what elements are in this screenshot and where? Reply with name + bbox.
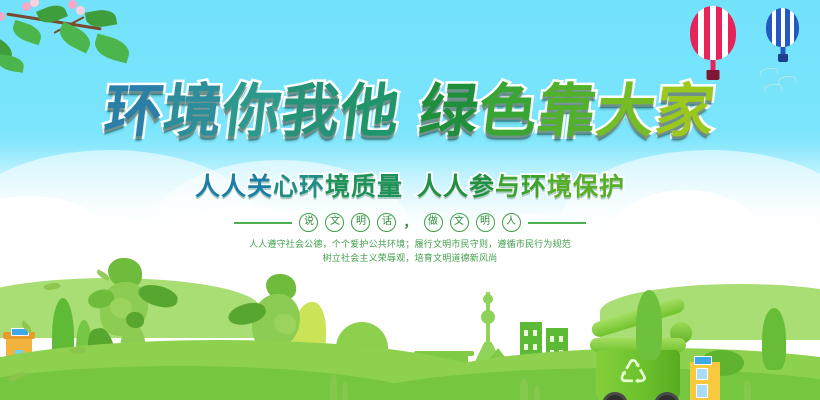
slogan-char-chip: 说 bbox=[299, 213, 318, 232]
subtitle-segment: 人人参 bbox=[417, 167, 495, 203]
balloon-stripe bbox=[790, 8, 794, 47]
blossom-branch bbox=[0, 0, 174, 84]
slogan-char-chip: 明 bbox=[476, 213, 495, 232]
slogan-band: 说 文 明 话 ， 做 文 明 人 bbox=[0, 213, 820, 232]
blossom bbox=[76, 6, 85, 15]
body-line: 人人遵守社会公德，个个爱护公共环境；履行文明市民守则，遵循市民行为规范 bbox=[0, 238, 820, 252]
window bbox=[533, 344, 537, 350]
window bbox=[533, 330, 537, 336]
leaf bbox=[10, 20, 44, 45]
hot-air-balloon-blue bbox=[766, 8, 799, 47]
slogan-char-chip: 人 bbox=[502, 213, 521, 232]
slogan-char-chip: 文 bbox=[450, 213, 469, 232]
slogan-char-chip: 做 bbox=[424, 213, 443, 232]
balloon-envelope bbox=[766, 8, 799, 47]
bird-icon bbox=[760, 67, 779, 77]
window bbox=[550, 336, 554, 342]
grass-blade bbox=[534, 386, 540, 400]
balloon-stripe bbox=[698, 6, 704, 60]
title-char: 境 bbox=[160, 82, 226, 140]
slogan-char-chip: 文 bbox=[325, 213, 344, 232]
title-char: 色 bbox=[475, 82, 541, 140]
balloon-stripe bbox=[772, 8, 776, 47]
balloon-stripe bbox=[722, 6, 728, 60]
subtitle-segment: 心环 bbox=[273, 167, 325, 203]
balloon-neck bbox=[711, 60, 716, 70]
title-char: 绿 bbox=[416, 82, 482, 140]
subtitle-segment: 与环 bbox=[495, 167, 547, 203]
page-title: 环境你我他 绿色靠大家 bbox=[0, 82, 820, 140]
ground-layer: ♺ bbox=[0, 260, 820, 400]
subtitle-segment: 境质量 bbox=[325, 167, 403, 203]
window bbox=[524, 330, 528, 336]
solar-panel bbox=[694, 356, 712, 365]
eco-poster: 环境你我他 绿色靠大家 人人关心环境质量 人人参与环境保护 说 文 明 话 ， … bbox=[0, 0, 820, 400]
subtitle-spacer bbox=[403, 172, 417, 201]
title-char: 你 bbox=[219, 82, 285, 140]
window bbox=[559, 336, 563, 342]
grass-blade bbox=[342, 382, 348, 400]
window bbox=[696, 368, 708, 380]
slogan-comma: ， bbox=[403, 218, 416, 228]
tree-right bbox=[762, 308, 786, 370]
window bbox=[696, 384, 708, 398]
balloon-neck bbox=[780, 47, 785, 54]
balloon-stripe bbox=[710, 6, 716, 60]
leaf bbox=[92, 33, 132, 63]
blossom bbox=[30, 0, 39, 7]
recycle-symbol: ♺ bbox=[618, 356, 648, 390]
slogan-rule-left bbox=[234, 222, 292, 224]
title-char: 家 bbox=[653, 82, 719, 140]
tower-sphere bbox=[483, 294, 493, 304]
grass-blade bbox=[744, 380, 751, 400]
tree-right bbox=[636, 290, 662, 360]
title-char: 他 bbox=[337, 82, 403, 140]
grass-blade bbox=[520, 378, 528, 400]
hot-air-balloon-red bbox=[690, 6, 736, 60]
balloon-basket bbox=[778, 54, 788, 62]
window bbox=[524, 344, 528, 350]
tower-sphere bbox=[481, 310, 495, 324]
title-char: 环 bbox=[101, 82, 167, 140]
figure-foliage bbox=[274, 314, 296, 334]
blossom bbox=[0, 12, 5, 21]
title-char: 靠 bbox=[534, 82, 600, 140]
slogan-char-chip: 话 bbox=[377, 213, 396, 232]
page-subtitle: 人人关心环境质量 人人参与环境保护 bbox=[0, 167, 820, 203]
subtitle-segment: 境保护 bbox=[547, 167, 625, 203]
leaf bbox=[0, 54, 25, 72]
title-char: 大 bbox=[593, 82, 659, 140]
figure-foliage bbox=[126, 312, 144, 328]
title-char: 我 bbox=[278, 82, 344, 140]
grass-blade bbox=[330, 374, 337, 400]
slogan-rule-right bbox=[528, 222, 586, 224]
subtitle-segment: 人人关 bbox=[195, 167, 273, 203]
slogan-char-chip: 明 bbox=[351, 213, 370, 232]
balloon-stripe bbox=[781, 8, 785, 47]
balloon-envelope bbox=[690, 6, 736, 60]
